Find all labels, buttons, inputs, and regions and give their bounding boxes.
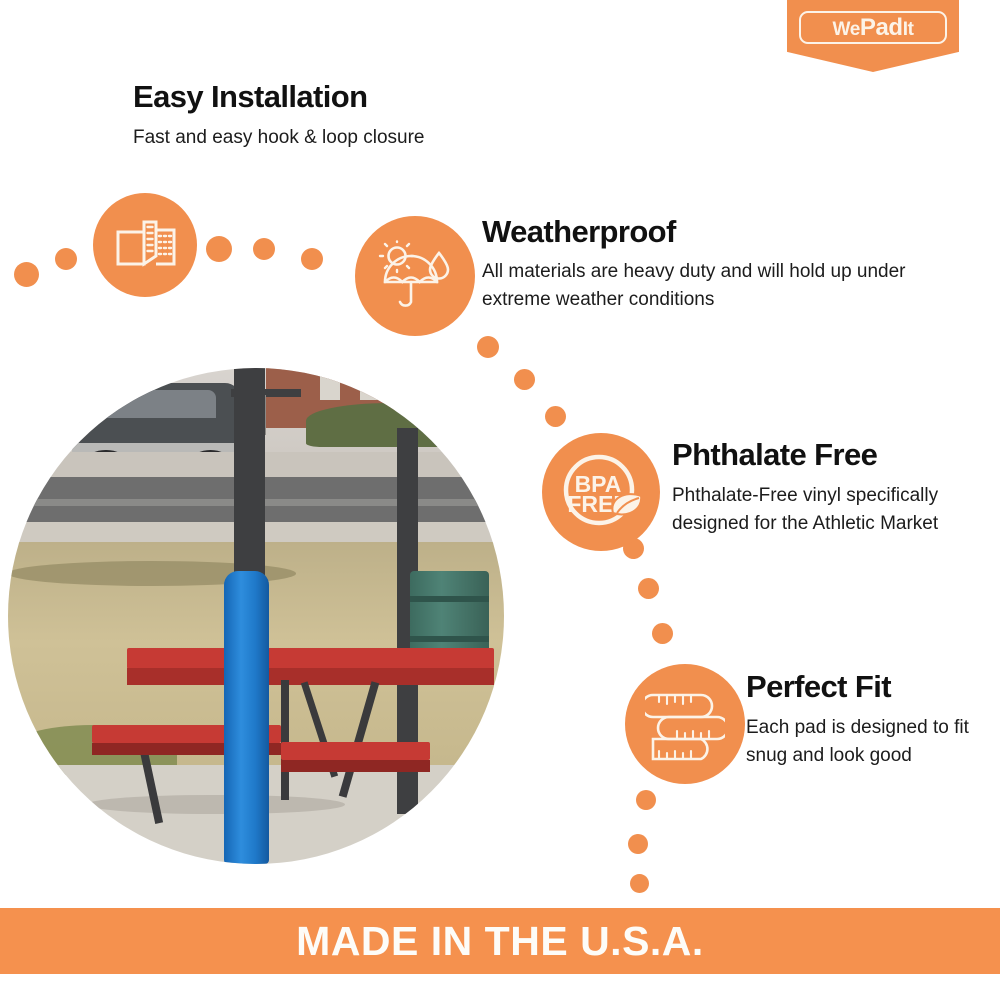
trail-dot (206, 236, 232, 262)
logo-text-pad: Pad (860, 14, 903, 41)
logo-outline-box: WePadIt (799, 11, 947, 44)
feature-desc-phthalate-free: Phthalate-Free vinyl specifically design… (672, 482, 942, 537)
measuring-tape-icon (645, 681, 725, 767)
feature-desc-weatherproof: All materials are heavy duty and will ho… (482, 258, 912, 313)
photo-building-window (320, 375, 340, 400)
made-in-usa-banner: MADE IN THE U.S.A. (0, 908, 1000, 974)
photo-barrel-ring (410, 636, 489, 642)
sun-umbrella-raindrop-icon (376, 239, 454, 313)
feature-title-easy-installation: Easy Installation (133, 80, 367, 114)
photo-building-window (360, 375, 380, 400)
feature-title-perfect-fit: Perfect Fit (746, 670, 891, 704)
icon-badge-easy-installation (93, 193, 197, 297)
trail-dot (545, 406, 566, 427)
feature-title-weatherproof: Weatherproof (482, 215, 676, 249)
photo-barrel-ring (410, 596, 489, 602)
photo-bench-right (281, 742, 430, 760)
trail-dot (630, 874, 649, 893)
trail-dot (514, 369, 535, 390)
trail-dot (55, 248, 77, 270)
trail-dot (636, 790, 656, 810)
bpa-free-leaf-icon: BPA FREE (555, 446, 647, 538)
photo-bench-right-edge (281, 760, 430, 772)
feature-desc-perfect-fit: Each pad is designed to fit snug and loo… (746, 714, 981, 769)
trail-dot (14, 262, 39, 287)
photo-blue-pole-pad (224, 571, 270, 864)
photo-table-leg (281, 680, 289, 799)
trail-dot (301, 248, 323, 270)
photo-scene (8, 368, 504, 864)
trail-dot (253, 238, 275, 260)
icon-badge-weatherproof (355, 216, 475, 336)
trail-dot (638, 578, 659, 599)
trail-dot (652, 623, 673, 644)
product-photo (8, 368, 504, 864)
feature-desc-easy-installation: Fast and easy hook & loop closure (133, 124, 553, 152)
brand-logo[interactable]: WePadIt (787, 0, 959, 72)
infographic-page: WePadIt Easy Installation Fast and easy … (0, 0, 1000, 987)
feature-title-phthalate-free: Phthalate Free (672, 438, 877, 472)
icon-badge-perfect-fit (625, 664, 745, 784)
trail-dot (477, 336, 499, 358)
made-in-usa-text: MADE IN THE U.S.A. (296, 918, 704, 965)
trail-dot (628, 834, 648, 854)
photo-picnic-table-top (127, 648, 494, 669)
velcro-pad-icon (114, 218, 176, 272)
icon-badge-phthalate-free: BPA FREE (542, 433, 660, 551)
photo-car-window (87, 390, 216, 417)
photo-picnic-table-edge (127, 668, 494, 685)
photo-main-post (234, 368, 266, 586)
logo-text-it: It (903, 19, 914, 40)
logo-text-we: We (833, 19, 860, 40)
